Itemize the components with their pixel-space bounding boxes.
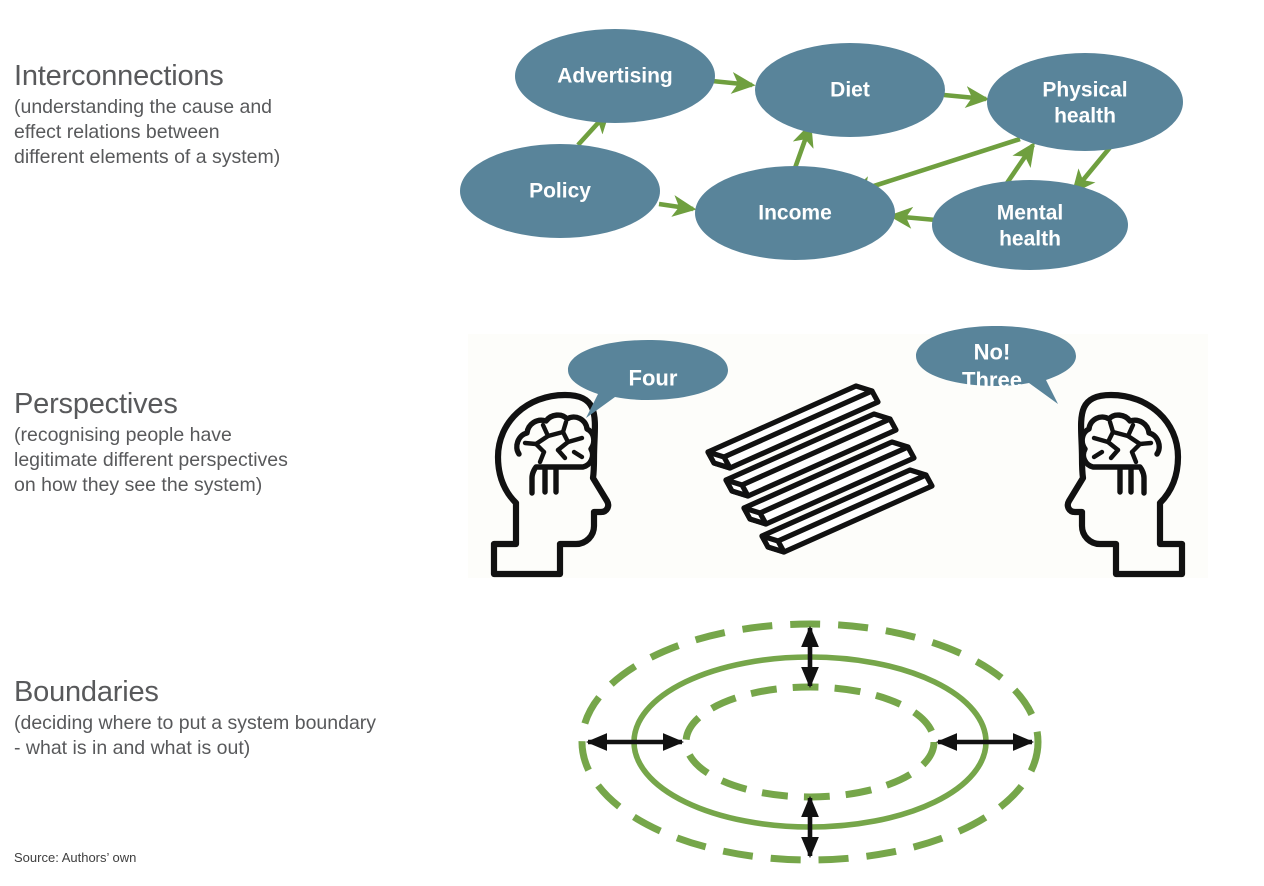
concept-subtitle-line: (understanding the cause and (14, 95, 280, 120)
node-label-income: Income (758, 202, 832, 225)
arrow-group (588, 628, 1032, 856)
concept-title-perspectives: Perspectives (14, 388, 288, 420)
node-physical-health[interactable]: Physical health (987, 53, 1183, 151)
brain-folds (1094, 422, 1151, 462)
node-label-physical-health-line2: health (1054, 105, 1116, 128)
bubble-label-right-line2: Three (962, 368, 1022, 393)
concept-subtitle-line: on how they see the system) (14, 473, 288, 498)
diagram-perspectives: Four (468, 334, 1208, 578)
node-label-advertising: Advertising (557, 65, 673, 88)
node-label-mental-health-line1: Mental (997, 202, 1064, 225)
node-ellipse (987, 53, 1183, 151)
head-outline (494, 395, 608, 574)
head-with-brain-icon-right (1068, 395, 1182, 574)
edge-physical-health-to-mental-health (1074, 145, 1112, 191)
edge-advertising-to-diet (712, 81, 752, 85)
node-label-policy: Policy (529, 180, 591, 203)
node-label-mental-health-line2: health (999, 228, 1061, 251)
concept-label-interconnections: Interconnections (understanding the caus… (14, 60, 280, 170)
edge-mental-health-to-physical-health (1007, 145, 1033, 183)
concept-subtitle-line: (recognising people have (14, 423, 288, 448)
node-policy[interactable]: Policy (460, 144, 660, 238)
concept-subtitle-perspectives: (recognising people have legitimate diff… (14, 423, 288, 498)
edge-policy-to-income (659, 204, 693, 209)
head-outline (1068, 395, 1182, 574)
boundary-ellipse-inner (686, 687, 934, 797)
node-label-diet: Diet (830, 79, 870, 102)
node-income[interactable]: Income (695, 166, 895, 260)
edge-mental-health-to-income (892, 216, 936, 220)
edge-diet-to-physical-health (944, 95, 986, 99)
concept-subtitle-line: different elements of a system) (14, 145, 280, 170)
brain-outline (517, 415, 594, 493)
brain-folds (525, 422, 582, 462)
source-note: Source: Authors’ own (14, 850, 136, 865)
head-with-brain-icon-left (494, 395, 608, 574)
figure-root: Interconnections (understanding the caus… (0, 0, 1264, 886)
diagram-boundaries (560, 608, 1060, 880)
node-advertising[interactable]: Advertising (515, 29, 715, 123)
concept-subtitle-line: legitimate different perspectives (14, 448, 288, 473)
concept-label-boundaries: Boundaries (deciding where to put a syst… (14, 676, 376, 761)
diagram-interconnections: Advertising Diet Physical health Policy (440, 8, 1200, 280)
speech-bubble-left: Four (568, 340, 728, 418)
edge-income-to-diet (795, 126, 810, 168)
causal-loop-svg: Advertising Diet Physical health Policy (440, 8, 1200, 280)
concept-subtitle-line: - what is in and what is out) (14, 736, 376, 761)
boundaries-svg (560, 608, 1060, 880)
concept-title-interconnections: Interconnections (14, 60, 280, 92)
concept-subtitle-interconnections: (understanding the cause and effect rela… (14, 95, 280, 170)
perspectives-svg: Four (468, 334, 1208, 578)
brain-outline (1082, 415, 1159, 493)
concept-label-perspectives: Perspectives (recognising people have le… (14, 388, 288, 498)
speech-bubble-right: No! Three (916, 326, 1076, 404)
node-mental-health[interactable]: Mental health (932, 180, 1128, 270)
node-diet[interactable]: Diet (755, 43, 945, 137)
concept-title-boundaries: Boundaries (14, 676, 376, 708)
node-ellipse (932, 180, 1128, 270)
concept-subtitle-boundaries: (deciding where to put a system boundary… (14, 711, 376, 761)
node-label-physical-health-line1: Physical (1042, 79, 1127, 102)
log-pile-icon (708, 386, 932, 552)
concept-subtitle-line: effect relations between (14, 120, 280, 145)
concept-subtitle-line: (deciding where to put a system boundary (14, 711, 376, 736)
bubble-label-right-line1: No! (974, 340, 1011, 365)
bubble-label-left: Four (629, 366, 678, 391)
